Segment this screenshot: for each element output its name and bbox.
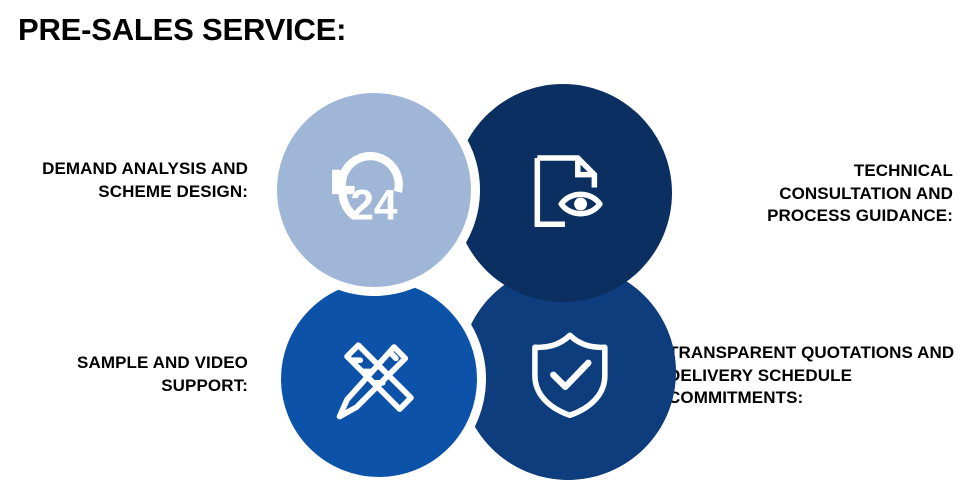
circle-demand-analysis[interactable]: 24 [268, 84, 480, 296]
circle-technical-consultation[interactable] [454, 84, 672, 302]
24-hours-rotate-icon: 24 [323, 143, 417, 237]
circle-sample-video-support[interactable] [272, 272, 486, 486]
page-title: PRE-SALES SERVICE: [18, 12, 346, 48]
label-technical-consultation: TECHNICAL CONSULTATION AND PROCESS GUIDA… [728, 160, 953, 228]
svg-text:24: 24 [350, 181, 398, 228]
label-demand-analysis: DEMAND ANALYSIS AND SCHEME DESIGN: [8, 158, 248, 203]
pencil-ruler-icon [330, 334, 424, 428]
label-transparent-quotations: TRANSPARENT QUOTATIONS AND DELIVERY SCHE… [668, 342, 960, 410]
label-sample-video-support: SAMPLE AND VIDEO SUPPORT: [8, 352, 248, 397]
document-eye-icon [520, 146, 614, 240]
service-circle-cluster: 24 [264, 82, 676, 486]
shield-check-icon [523, 327, 617, 421]
